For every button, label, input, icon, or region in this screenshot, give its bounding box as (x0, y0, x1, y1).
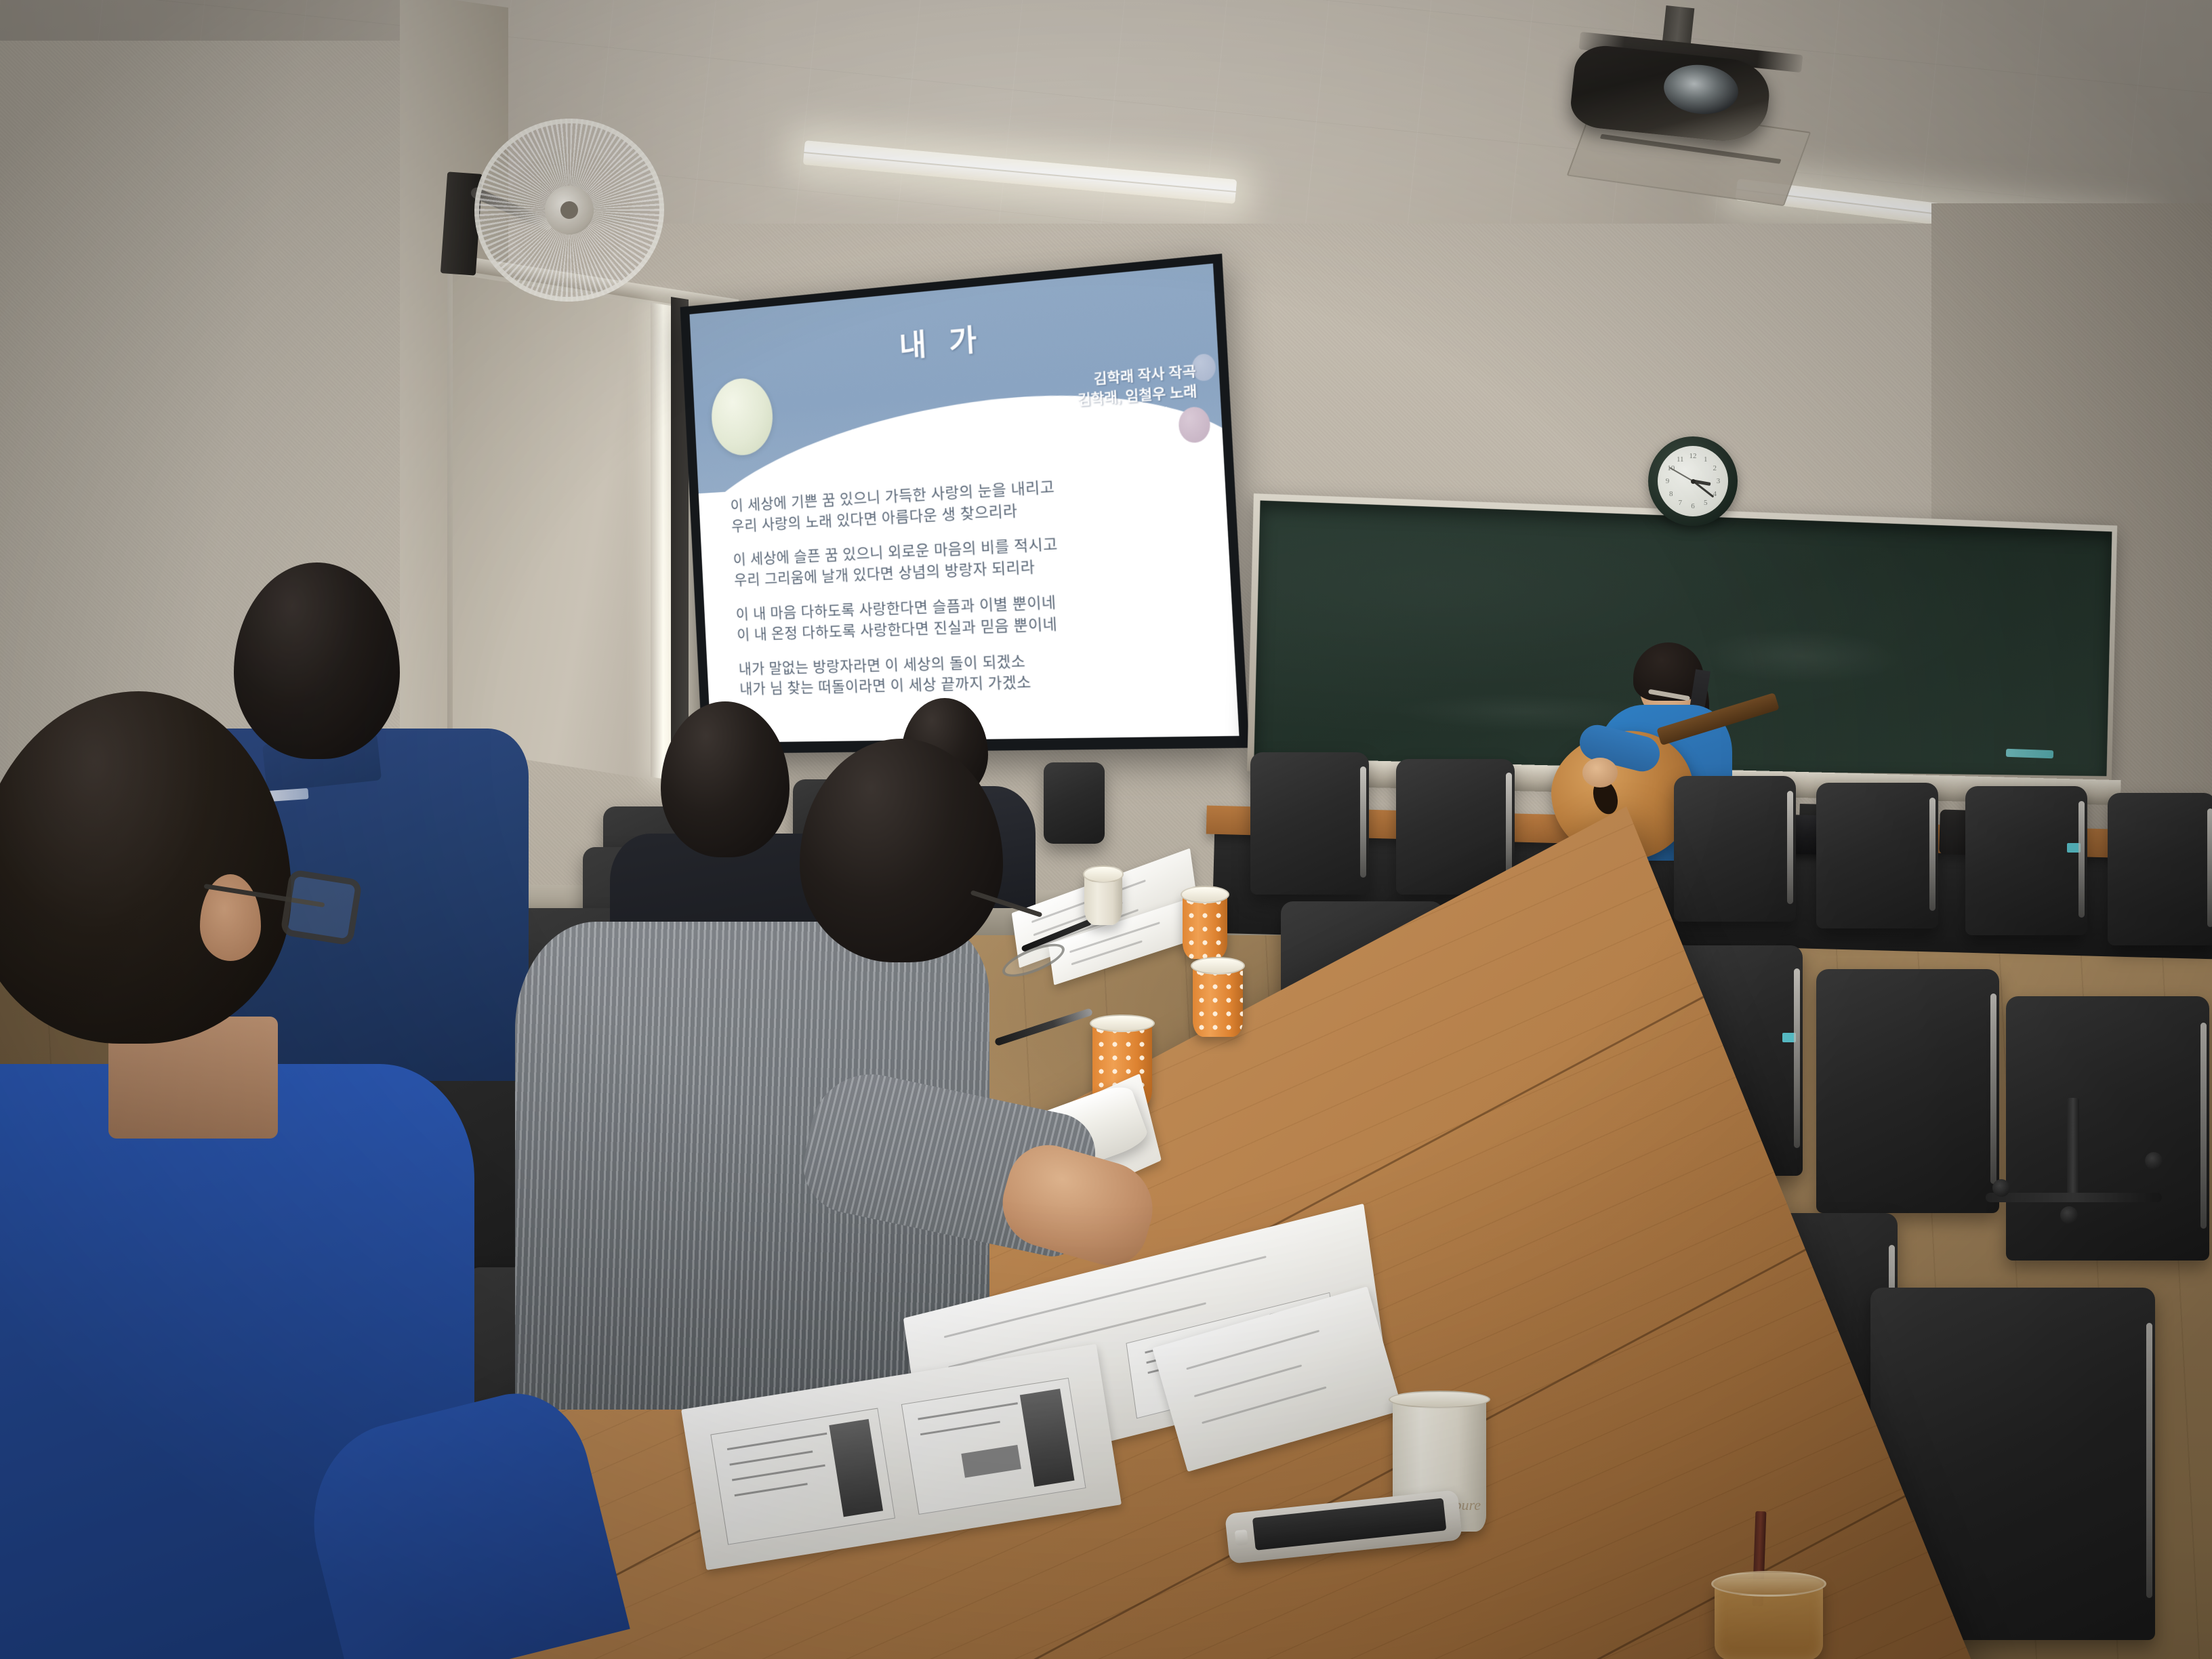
clock-numeral: 6 (1691, 502, 1695, 510)
classroom-scene: Cm 내 가 김학래 작사 작곡 김학래, 임철우 노래 이 세상에 기쁜 꿈 … (0, 0, 2212, 1659)
chair-base (1986, 1193, 2162, 1202)
chair-caster (1992, 1179, 2010, 1197)
chair-tag (1782, 1033, 1796, 1042)
clock-numeral: 8 (1669, 490, 1673, 498)
projection-screen: Cm 내 가 김학래 작사 작곡 김학래, 임철우 노래 이 세상에 기쁜 꿈 … (689, 264, 1239, 743)
fan-hub (542, 183, 596, 237)
projection-screen-frame: Cm 내 가 김학래 작사 작곡 김학래, 임철우 노래 이 세상에 기쁜 꿈 … (680, 253, 1250, 754)
chair[interactable] (1816, 783, 1938, 928)
chair[interactable] (2108, 793, 2212, 945)
chair[interactable] (1965, 786, 2087, 935)
chair[interactable] (1250, 752, 1369, 895)
lyric-stanza: 이 세상에 슬픈 꿈 있으니 외로운 마음의 비를 적시고 우리 그리움에 날개… (733, 527, 1201, 592)
clock-center-pin (1691, 479, 1696, 484)
chair[interactable] (2006, 996, 2209, 1261)
clock-numeral: 5 (1704, 499, 1708, 507)
chair[interactable] (1396, 759, 1515, 895)
paper-cup[interactable] (1193, 962, 1243, 1037)
lyric-stanza: 이 내 마음 다하도록 사랑한다면 슬픔과 이별 뿐이네 이 내 온정 다하도록… (735, 586, 1204, 645)
chair[interactable] (1674, 776, 1796, 922)
clock-numeral: 9 (1666, 477, 1670, 485)
clock-face: 12 1 2 3 4 5 6 7 8 9 10 11 (1658, 446, 1728, 516)
chair[interactable] (1044, 762, 1105, 844)
eyeglasses-lens-icon (280, 869, 363, 946)
clock-second-hand (1669, 467, 1693, 481)
clock-numeral: 11 (1677, 455, 1684, 464)
paper-cup[interactable] (1183, 891, 1227, 959)
slide-lyrics: 이 세상에 기쁜 꿈 있으니 가득한 사랑의 눈을 내리고 우리 사랑의 노래 … (730, 468, 1208, 714)
slide-credits: 김학래 작사 작곡 김학래, 임철우 노래 (1076, 362, 1197, 411)
chair[interactable] (1816, 969, 1999, 1213)
wall-clock-icon: 12 1 2 3 4 5 6 7 8 9 10 11 (1648, 436, 1738, 526)
clock-numeral: 3 (1717, 477, 1721, 485)
chair-post (2067, 1098, 2079, 1200)
clock-numeral: 2 (1713, 464, 1717, 472)
lyric-stanza: 내가 말없는 방랑자라면 이 세상의 돌이 되겠소 내가 님 찾는 떠돌이라면 … (738, 646, 1208, 700)
chalk-pieces-icon (2006, 749, 2053, 758)
paper-cup[interactable] (1084, 871, 1122, 925)
chair-tag (2067, 843, 2081, 853)
clock-numeral: 7 (1679, 499, 1683, 507)
window-blind[interactable] (453, 274, 676, 783)
presenter-hand (1582, 758, 1618, 787)
clock-numeral: 1 (1704, 455, 1708, 464)
phone-home-button-icon[interactable] (1235, 1530, 1248, 1546)
chair-caster (2060, 1206, 2078, 1224)
drink-rim (1711, 1571, 1826, 1597)
iced-drink[interactable] (1715, 1579, 1823, 1659)
chair-caster (2145, 1152, 2163, 1170)
clock-numeral: 12 (1689, 452, 1697, 460)
